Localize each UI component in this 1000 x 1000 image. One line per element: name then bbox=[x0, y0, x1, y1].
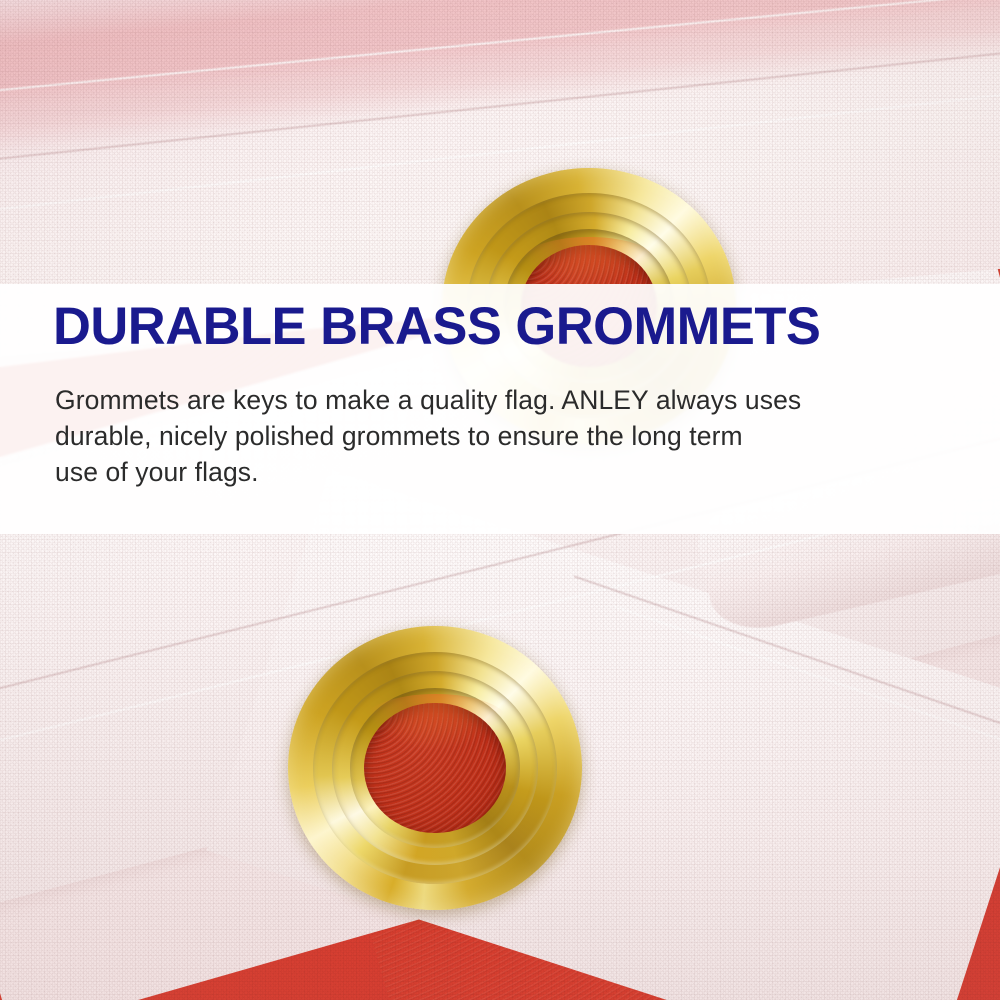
body-line-2: durable, nicely polished grommets to ens… bbox=[55, 418, 945, 454]
brass-grommet-bottom bbox=[288, 626, 582, 910]
product-feature-image: DURABLE BRASS GROMMETS Grommets are keys… bbox=[0, 0, 1000, 1000]
body-line-1: Grommets are keys to make a quality flag… bbox=[55, 382, 945, 418]
text-overlay-panel: DURABLE BRASS GROMMETS Grommets are keys… bbox=[0, 284, 1000, 534]
grommet-hole-red-fabric bbox=[364, 703, 505, 834]
headline: DURABLE BRASS GROMMETS bbox=[53, 300, 820, 353]
body-copy: Grommets are keys to make a quality flag… bbox=[55, 382, 945, 490]
body-line-3: use of your flags. bbox=[55, 454, 945, 490]
